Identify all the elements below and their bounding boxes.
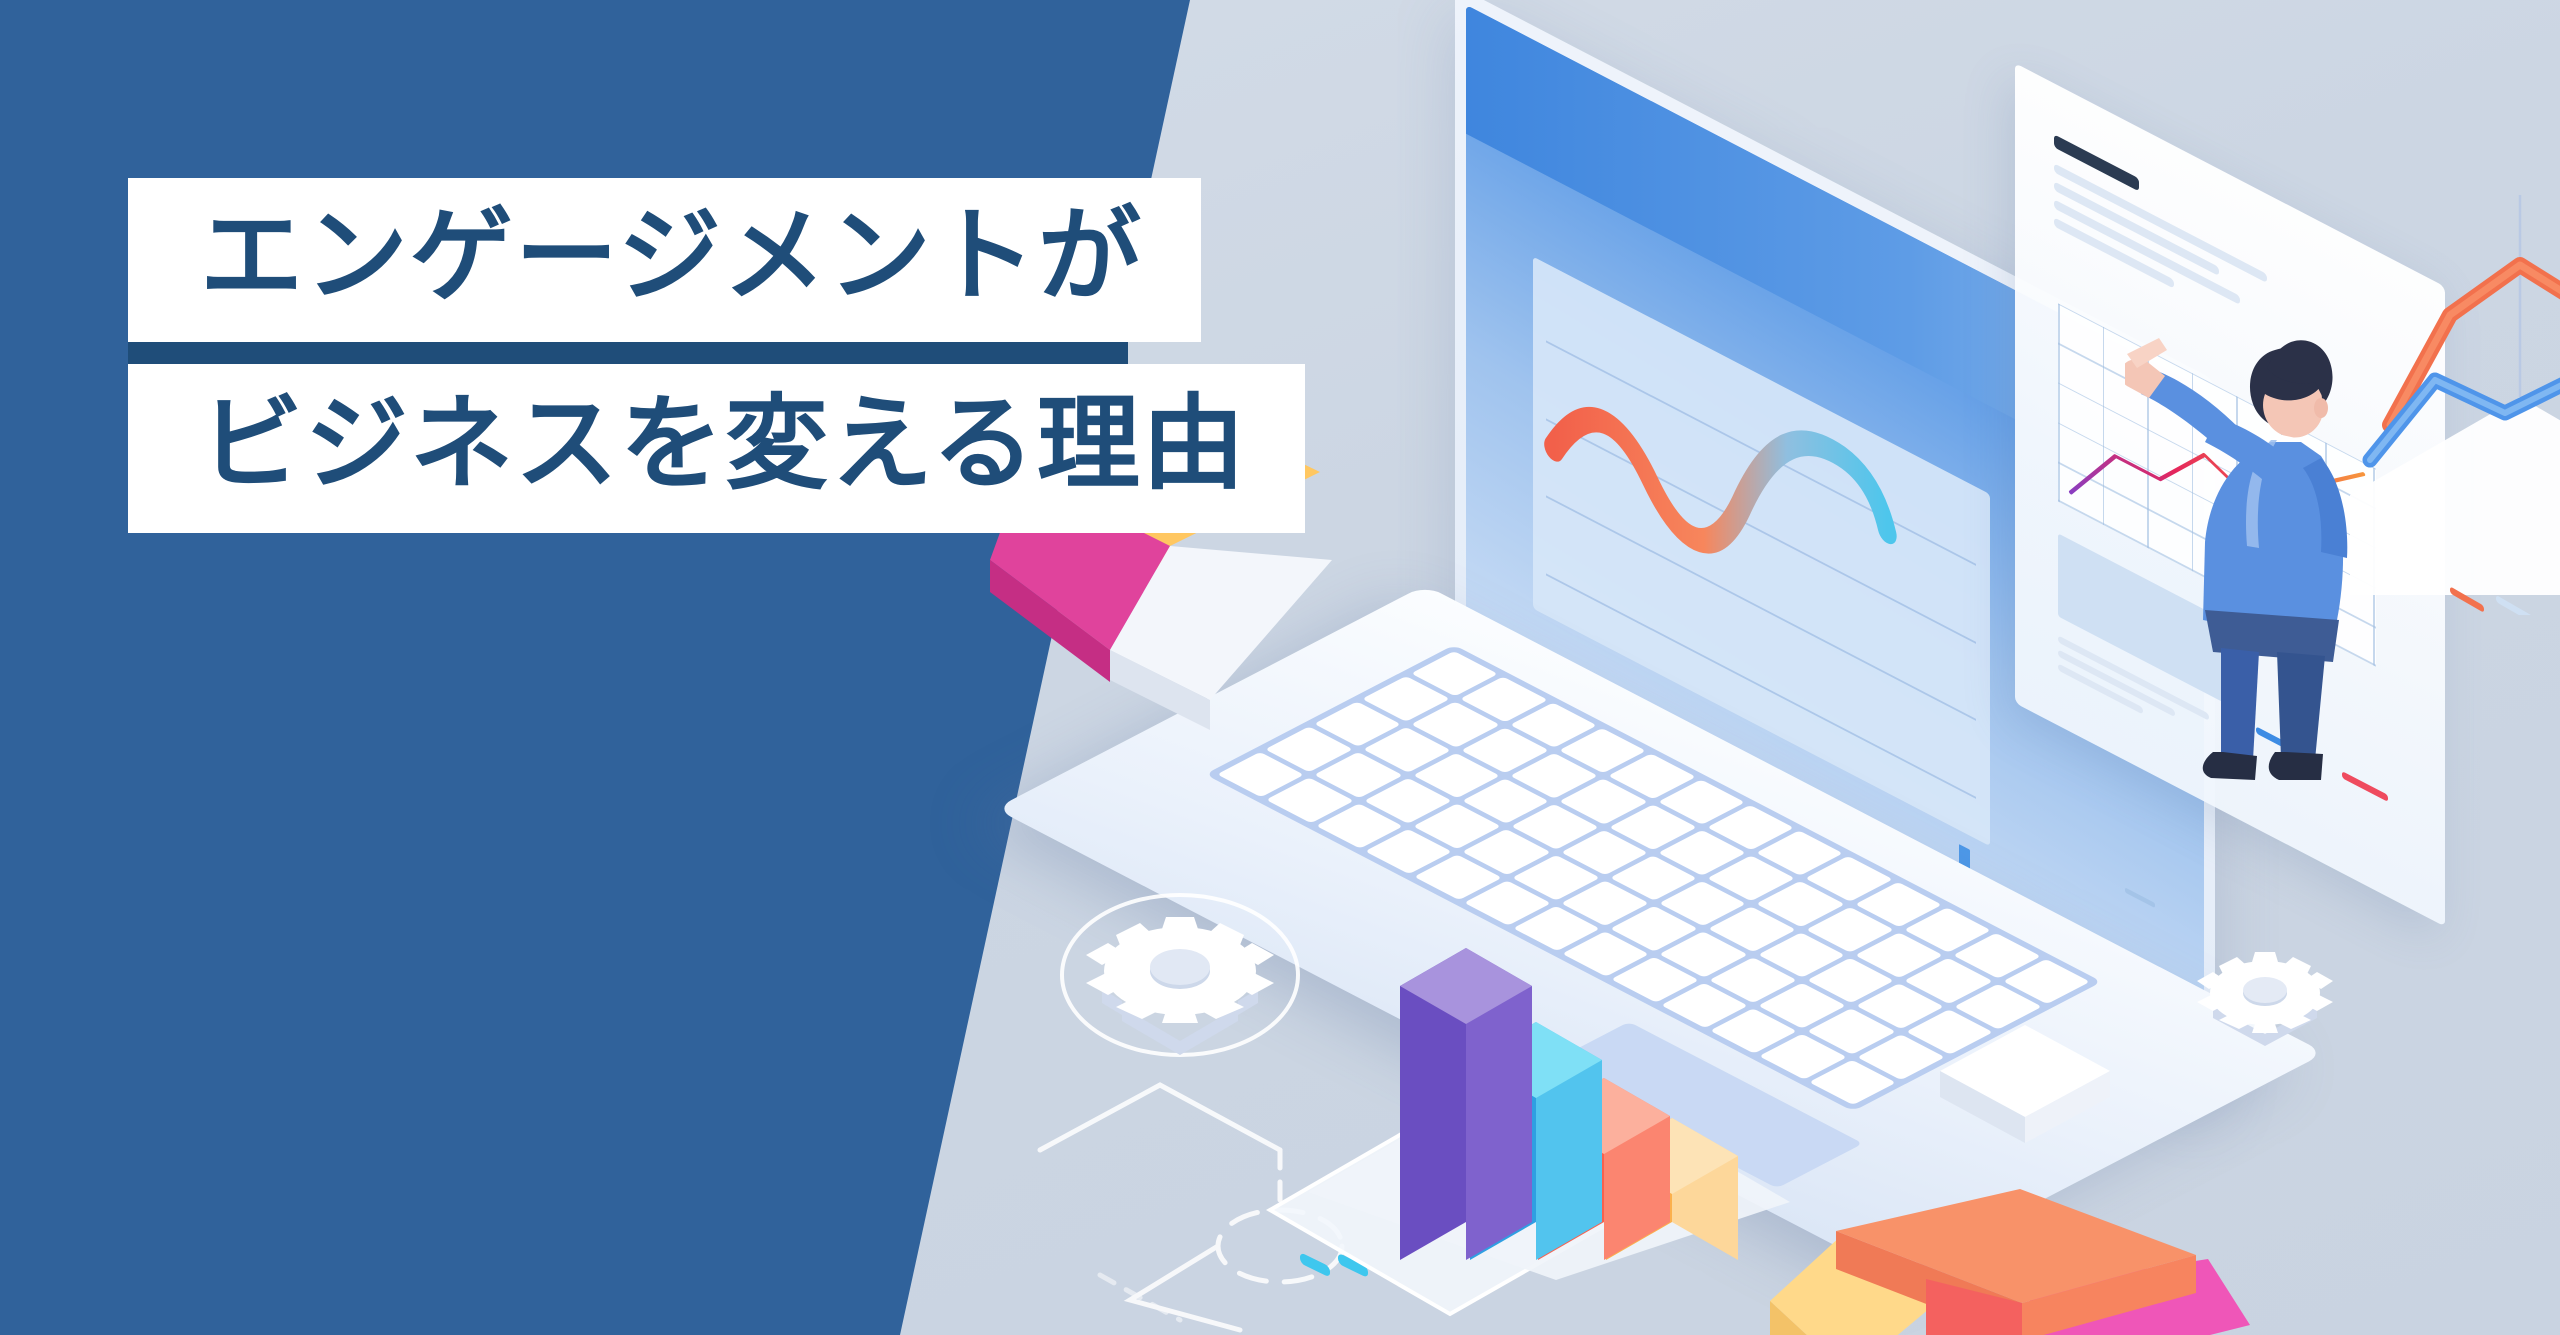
businessman-pointing [2125, 290, 2385, 830]
floating-cube-small [1930, 1015, 2120, 1165]
banner-stage: エンゲージメントが ビジネスを変える理由 [0, 0, 2560, 1335]
title-divider-rule [128, 342, 1128, 364]
title-block: エンゲージメントが ビジネスを変える理由 [0, 178, 1305, 533]
title-band-2: ビジネスを変える理由 [128, 364, 1305, 534]
isometric-pie-chart-bottom [1730, 1175, 2290, 1335]
page-title-line-1: エンゲージメントが [200, 196, 1143, 318]
gear-icon-small [2175, 920, 2355, 1065]
head [2250, 340, 2333, 437]
gear-icon-large [1055, 875, 1305, 1065]
title-band-1: エンゲージメントが [128, 178, 1201, 342]
page-title-line-2: ビジネスを変える理由 [200, 384, 1247, 506]
bar-1 [1400, 948, 1532, 1260]
isometric-bar-chart [1290, 810, 1810, 1290]
